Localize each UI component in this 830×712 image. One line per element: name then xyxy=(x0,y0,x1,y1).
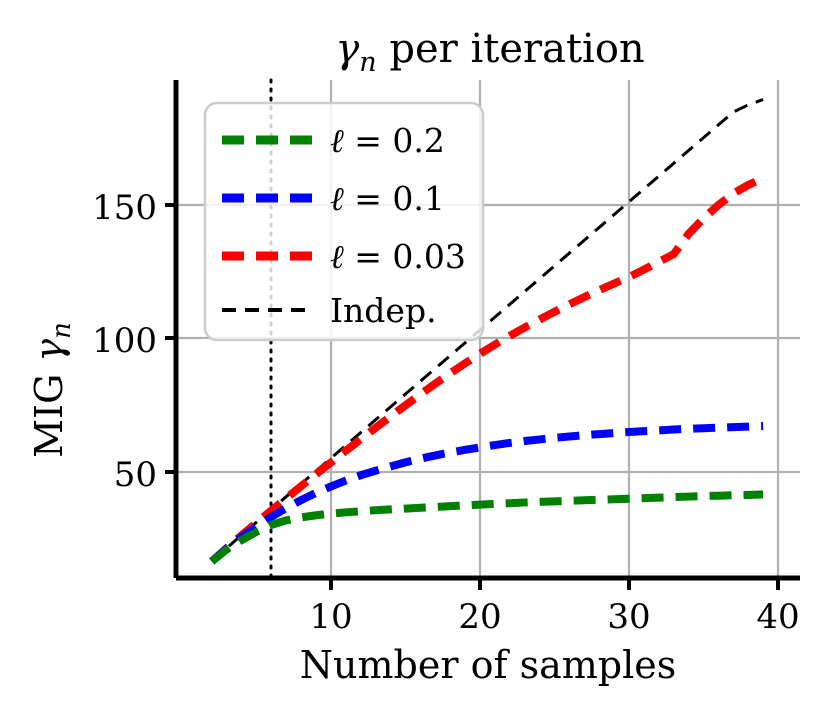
xtick-label-40: 40 xyxy=(756,597,799,637)
legend-label-l-0-03[interactable]: ℓ = 0.03 xyxy=(330,237,466,276)
xtick-label-30: 30 xyxy=(607,597,650,637)
legend-rest-1: = 0.1 xyxy=(344,179,445,218)
legend[interactable]: ℓ = 0.2 ℓ = 0.1 ℓ = 0.03 Indep. xyxy=(205,103,483,340)
chart-title: γn per iteration xyxy=(335,26,644,78)
y-axis-title: MIG γn xyxy=(27,322,77,458)
legend-rest-3: Indep. xyxy=(330,291,437,330)
y-axis-title-gamma: γ xyxy=(27,339,71,362)
figure-canvas: 150 100 50 10 20 30 40 Number of samples… xyxy=(0,0,830,712)
x-axis-title: Number of samples xyxy=(300,643,677,687)
ytick-label-50: 50 xyxy=(114,455,157,495)
ytick-label-150: 150 xyxy=(92,188,157,228)
legend-symbol-0: ℓ xyxy=(330,121,344,160)
legend-label-indep[interactable]: Indep. xyxy=(330,291,437,330)
y-axis-title-subscript: n xyxy=(47,322,77,339)
svg-text:MIG γn: MIG γn xyxy=(27,322,77,458)
legend-label-l-0-1[interactable]: ℓ = 0.1 xyxy=(330,179,445,218)
chart-title-subscript: n xyxy=(359,47,376,78)
ytick-label-100: 100 xyxy=(92,321,157,361)
legend-symbol-2: ℓ xyxy=(330,237,344,276)
legend-symbol-1: ℓ xyxy=(330,179,344,218)
chart-plot: 150 100 50 10 20 30 40 Number of samples… xyxy=(0,0,830,712)
y-axis-title-prefix: MIG xyxy=(27,362,71,458)
legend-rest-2: = 0.03 xyxy=(344,237,466,276)
legend-label-l-0-2[interactable]: ℓ = 0.2 xyxy=(330,121,445,160)
xtick-label-10: 10 xyxy=(309,597,352,637)
chart-title-rest: per iteration xyxy=(377,26,645,72)
chart-title-gamma: γ xyxy=(335,26,359,72)
xtick-label-20: 20 xyxy=(458,597,501,637)
legend-rest-0: = 0.2 xyxy=(344,121,445,160)
